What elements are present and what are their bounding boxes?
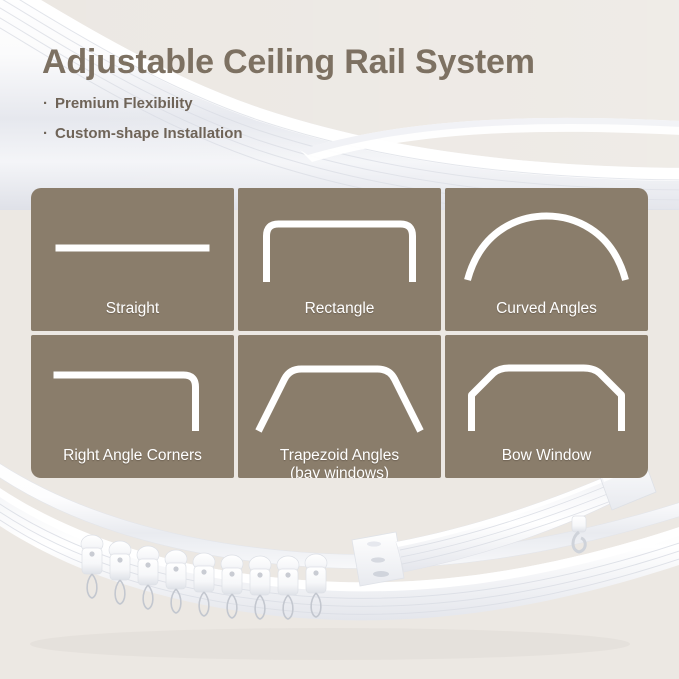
straight-shape-icon (31, 202, 234, 294)
shape-card-label: Bow Window (496, 447, 598, 465)
page-title: Adjustable Ceiling Rail System (42, 44, 642, 81)
bow-window-shape-icon (445, 349, 648, 441)
shape-card-bow-window: Bow Window (445, 335, 648, 478)
right-angle-shape-icon (31, 349, 234, 441)
feature-bullet-1: · Custom-shape Installation (43, 126, 642, 141)
product-infographic: Adjustable Ceiling Rail System · Premium… (0, 0, 679, 679)
end-hook (572, 516, 586, 552)
roller-carrier-group (81, 535, 327, 619)
curved-arc-shape-icon (445, 202, 648, 294)
shape-card-label: Right Angle Corners (57, 447, 208, 465)
shape-card-right-angle-corners: Right Angle Corners (31, 335, 234, 478)
shape-card-label-line1: Trapezoid Angles (280, 447, 399, 464)
mounting-bracket (352, 532, 404, 586)
bullet-dot-icon: · (43, 126, 48, 141)
feature-bullet-0: · Premium Flexibility (43, 96, 642, 111)
feature-bullet-label: Custom-shape Installation (55, 126, 243, 141)
shape-card-curved-angles: Curved Angles (445, 188, 648, 331)
shape-card-label-line2: (bay windows) (280, 465, 399, 478)
rectangle-shape-icon (238, 202, 441, 294)
header: Adjustable Ceiling Rail System · Premium… (42, 44, 642, 141)
shape-card-straight: Straight (31, 188, 234, 331)
shape-card-label: Curved Angles (490, 300, 603, 318)
shape-card-label: Straight (100, 300, 165, 318)
shape-card-label: Trapezoid Angles (bay windows) (274, 447, 405, 478)
shape-card-rectangle: Rectangle (238, 188, 441, 331)
bullet-dot-icon: · (43, 96, 48, 111)
shape-options-grid: Straight Rectangle Curved Angles (31, 188, 648, 478)
shape-card-label: Rectangle (299, 300, 381, 318)
shape-card-trapezoid-angles: Trapezoid Angles (bay windows) (238, 335, 441, 478)
trapezoid-shape-icon (238, 349, 441, 441)
feature-bullet-label: Premium Flexibility (55, 96, 193, 111)
